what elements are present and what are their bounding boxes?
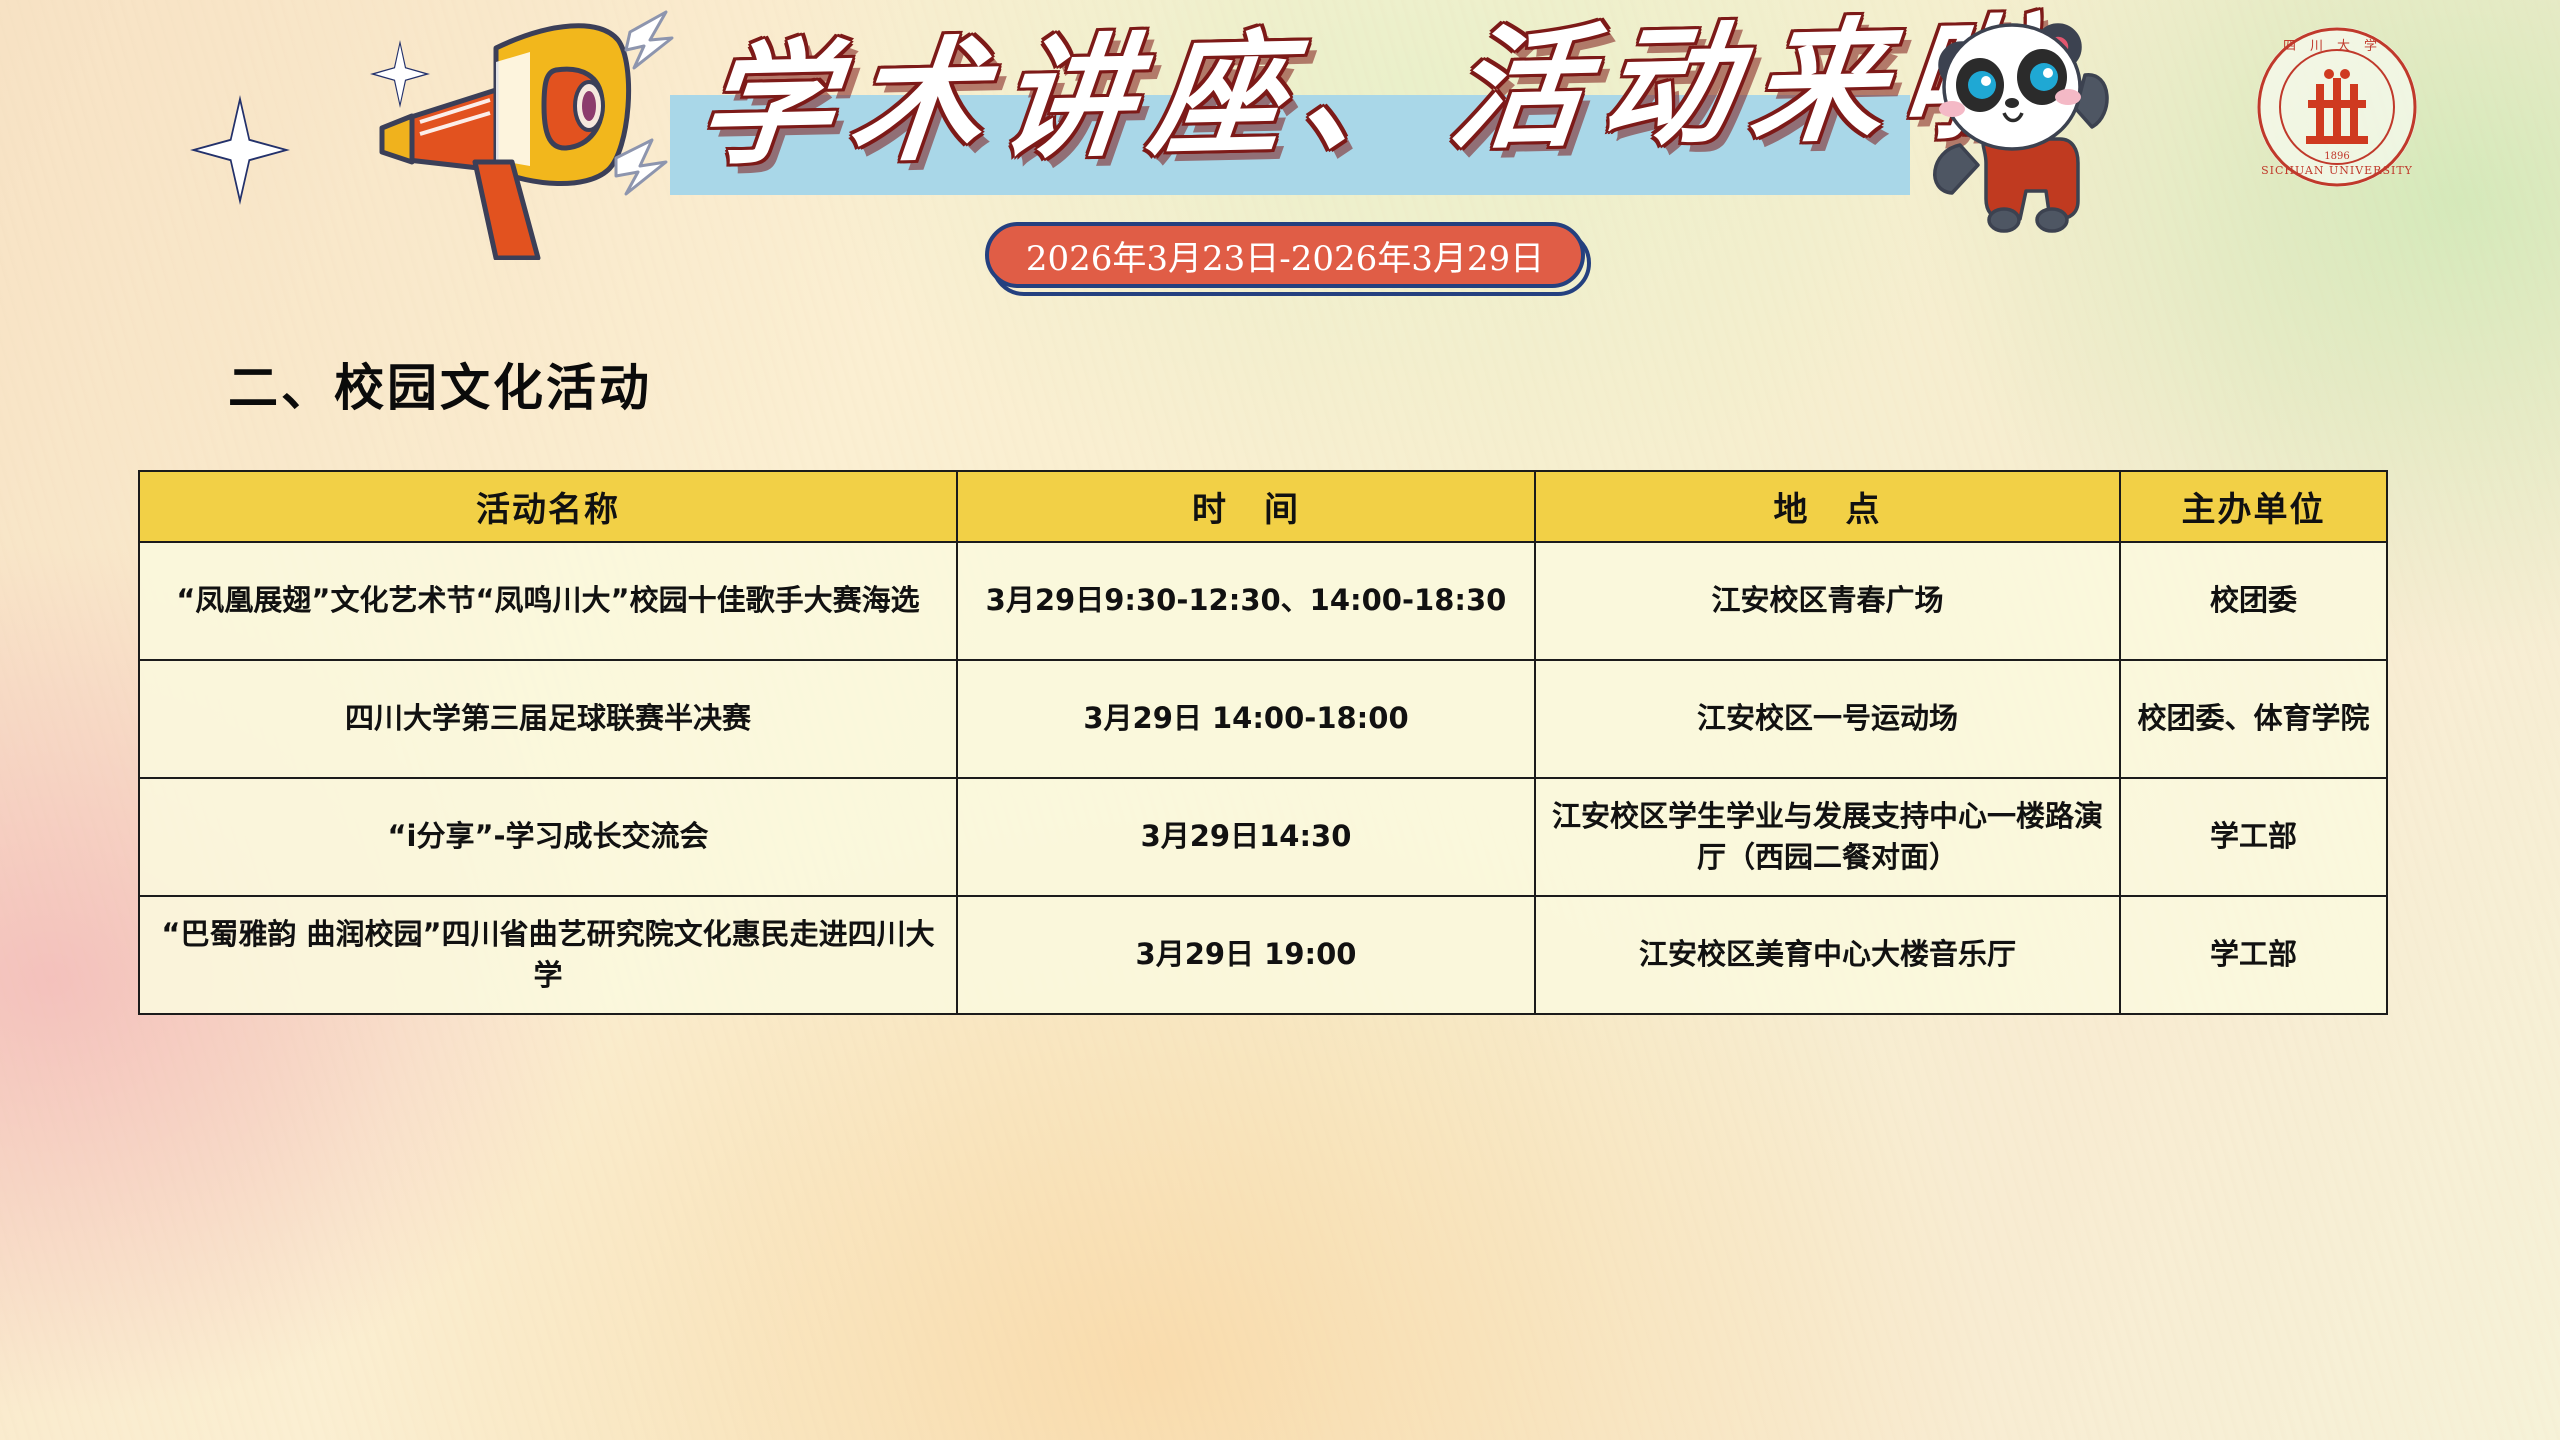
schedule-table-container: 活动名称 时 间 地 点 主办单位 “凤凰展翅”文化艺术节“凤鸣川大”校园十佳歌… <box>138 470 2386 1015</box>
schedule-table: 活动名称 时 间 地 点 主办单位 “凤凰展翅”文化艺术节“凤鸣川大”校园十佳歌… <box>138 470 2388 1015</box>
cell-place: 江安校区美育中心大楼音乐厅 <box>1535 896 2120 1014</box>
cell-time: 3月29日9:30-12:30、14:00-18:30 <box>957 542 1535 660</box>
cell-activity-name: “巴蜀雅韵 曲润校园”四川省曲艺研究院文化惠民走进四川大学 <box>139 896 957 1014</box>
poster-canvas: 学术讲座、活动来啦 <box>0 0 2560 1440</box>
svg-text:1896: 1896 <box>2324 151 2349 162</box>
panda-mascot-icon <box>1900 5 2150 235</box>
table-row: 四川大学第三届足球联赛半决赛 3月29日 14:00-18:00 江安校区一号运… <box>139 660 2387 778</box>
column-header-host: 主办单位 <box>2120 471 2387 542</box>
cell-activity-name: “i分享”-学习成长交流会 <box>139 778 957 896</box>
svg-text:SICHUAN UNIVERSITY: SICHUAN UNIVERSITY <box>2261 164 2413 177</box>
table-row: “巴蜀雅韵 曲润校园”四川省曲艺研究院文化惠民走进四川大学 3月29日 19:0… <box>139 896 2387 1014</box>
svg-text:四川大学: 四川大学 <box>2283 38 2391 54</box>
cell-activity-name: 四川大学第三届足球联赛半决赛 <box>139 660 957 778</box>
column-header-time: 时 间 <box>957 471 1535 542</box>
table-row: “i分享”-学习成长交流会 3月29日14:30 江安校区学生学业与发展支持中心… <box>139 778 2387 896</box>
cell-place: 江安校区学生学业与发展支持中心一楼路演厅（西园二餐对面） <box>1535 778 2120 896</box>
table-row: “凤凰展翅”文化艺术节“凤鸣川大”校园十佳歌手大赛海选 3月29日9:30-12… <box>139 542 2387 660</box>
date-range-text: 2026年3月23日-2026年3月29日 <box>985 222 1585 288</box>
page-title: 学术讲座、活动来啦 <box>692 3 1891 188</box>
cell-place: 江安校区一号运动场 <box>1535 660 2120 778</box>
megaphone-icon <box>300 10 720 260</box>
sparkle-star-icon <box>190 95 290 205</box>
column-header-place: 地 点 <box>1535 471 2120 542</box>
column-header-activity-name: 活动名称 <box>139 471 957 542</box>
cell-time: 3月29日 19:00 <box>957 896 1535 1014</box>
cell-host: 学工部 <box>2120 896 2387 1014</box>
sichuan-university-logo: 1896 SICHUAN UNIVERSITY 四川大学 <box>2252 22 2422 192</box>
poster-header: 学术讲座、活动来啦 <box>0 0 2560 330</box>
cell-host: 校团委 <box>2120 542 2387 660</box>
table-header-row: 活动名称 时 间 地 点 主办单位 <box>139 471 2387 542</box>
section-heading: 二、校园文化活动 <box>228 348 652 420</box>
cell-host: 学工部 <box>2120 778 2387 896</box>
date-range-badge: 2026年3月23日-2026年3月29日 <box>985 222 1585 292</box>
cell-time: 3月29日 14:00-18:00 <box>957 660 1535 778</box>
cell-activity-name: “凤凰展翅”文化艺术节“凤鸣川大”校园十佳歌手大赛海选 <box>139 542 957 660</box>
cell-place: 江安校区青春广场 <box>1535 542 2120 660</box>
cell-time: 3月29日14:30 <box>957 778 1535 896</box>
cell-host: 校团委、体育学院 <box>2120 660 2387 778</box>
